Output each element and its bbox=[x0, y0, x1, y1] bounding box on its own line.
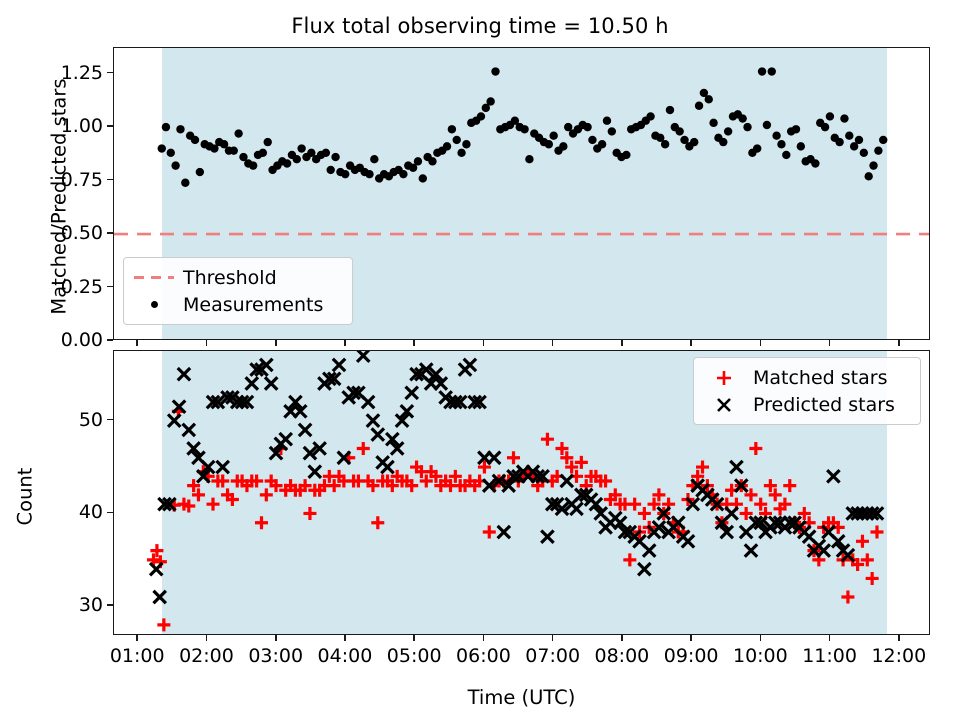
x-marker-icon bbox=[701, 395, 747, 415]
x-axis-label: Time (UTC) bbox=[113, 686, 930, 709]
legend-item-predicted-stars[interactable]: Predicted stars bbox=[701, 391, 911, 418]
plus-marker-icon bbox=[701, 368, 747, 388]
x-tick-mark bbox=[275, 340, 277, 346]
x-tick-mark bbox=[413, 340, 415, 346]
x-tick-label: 03:00 bbox=[248, 645, 303, 667]
x-tick-mark bbox=[483, 340, 485, 346]
dot-marker-icon bbox=[131, 301, 177, 308]
x-tick-mark bbox=[829, 635, 831, 641]
x-tick-mark bbox=[344, 340, 346, 346]
bottom-panel-legend[interactable]: Matched stars Predicted stars bbox=[693, 357, 921, 425]
figure-canvas: Flux total observing time = 10.50 h 0.00… bbox=[0, 0, 960, 720]
y-tick-mark bbox=[107, 232, 113, 234]
x-tick-mark bbox=[483, 635, 485, 641]
x-tick-mark bbox=[275, 635, 277, 641]
x-tick-mark bbox=[898, 340, 900, 346]
x-tick-mark bbox=[552, 340, 554, 346]
legend-item-threshold[interactable]: Threshold bbox=[131, 264, 343, 291]
x-tick-mark bbox=[898, 635, 900, 641]
legend-label-measurements: Measurements bbox=[177, 294, 323, 316]
x-tick-label: 02:00 bbox=[179, 645, 234, 667]
x-tick-mark bbox=[206, 340, 208, 346]
y-tick-mark bbox=[107, 72, 113, 74]
x-tick-label: 10:00 bbox=[733, 645, 788, 667]
bottom-panel-y-axis-label: Count bbox=[14, 397, 37, 597]
x-tick-mark bbox=[690, 340, 692, 346]
x-tick-label: 05:00 bbox=[387, 645, 442, 667]
x-tick-mark bbox=[621, 340, 623, 346]
x-tick-mark bbox=[552, 635, 554, 641]
figure-title: Flux total observing time = 10.50 h bbox=[0, 14, 960, 38]
y-tick-mark bbox=[107, 286, 113, 288]
legend-item-measurements[interactable]: Measurements bbox=[131, 291, 343, 318]
x-tick-label: 01:00 bbox=[110, 645, 165, 667]
x-tick-mark bbox=[136, 340, 138, 346]
x-tick-mark bbox=[621, 635, 623, 641]
x-tick-mark bbox=[760, 635, 762, 641]
x-tick-label: 04:00 bbox=[318, 645, 373, 667]
legend-label-matched-stars: Matched stars bbox=[747, 367, 887, 389]
y-tick-mark bbox=[107, 512, 113, 514]
x-tick-label: 11:00 bbox=[802, 645, 857, 667]
legend-label-predicted-stars: Predicted stars bbox=[747, 394, 895, 416]
y-tick-mark bbox=[107, 604, 113, 606]
legend-item-matched-stars[interactable]: Matched stars bbox=[701, 364, 911, 391]
dashed-line-icon bbox=[131, 276, 177, 279]
legend-label-threshold: Threshold bbox=[177, 267, 277, 289]
x-tick-mark bbox=[690, 635, 692, 641]
y-tick-label: 50 bbox=[79, 409, 103, 431]
y-tick-label: 40 bbox=[79, 501, 103, 523]
x-tick-mark bbox=[413, 635, 415, 641]
y-tick-mark bbox=[107, 339, 113, 341]
y-tick-mark bbox=[107, 125, 113, 127]
y-tick-mark bbox=[107, 419, 113, 421]
x-tick-label: 06:00 bbox=[456, 645, 511, 667]
x-tick-label: 09:00 bbox=[664, 645, 719, 667]
x-tick-label: 12:00 bbox=[871, 645, 926, 667]
x-tick-label: 07:00 bbox=[525, 645, 580, 667]
y-tick-mark bbox=[107, 179, 113, 181]
x-tick-mark bbox=[136, 635, 138, 641]
x-tick-mark bbox=[829, 340, 831, 346]
x-tick-mark bbox=[344, 635, 346, 641]
y-tick-label: 30 bbox=[79, 594, 103, 616]
top-panel-legend[interactable]: Threshold Measurements bbox=[123, 257, 353, 325]
top-panel-y-axis-label: Matched/Predicted stars bbox=[48, 57, 71, 337]
x-tick-label: 08:00 bbox=[595, 645, 650, 667]
x-tick-mark bbox=[206, 635, 208, 641]
x-tick-mark bbox=[760, 340, 762, 346]
